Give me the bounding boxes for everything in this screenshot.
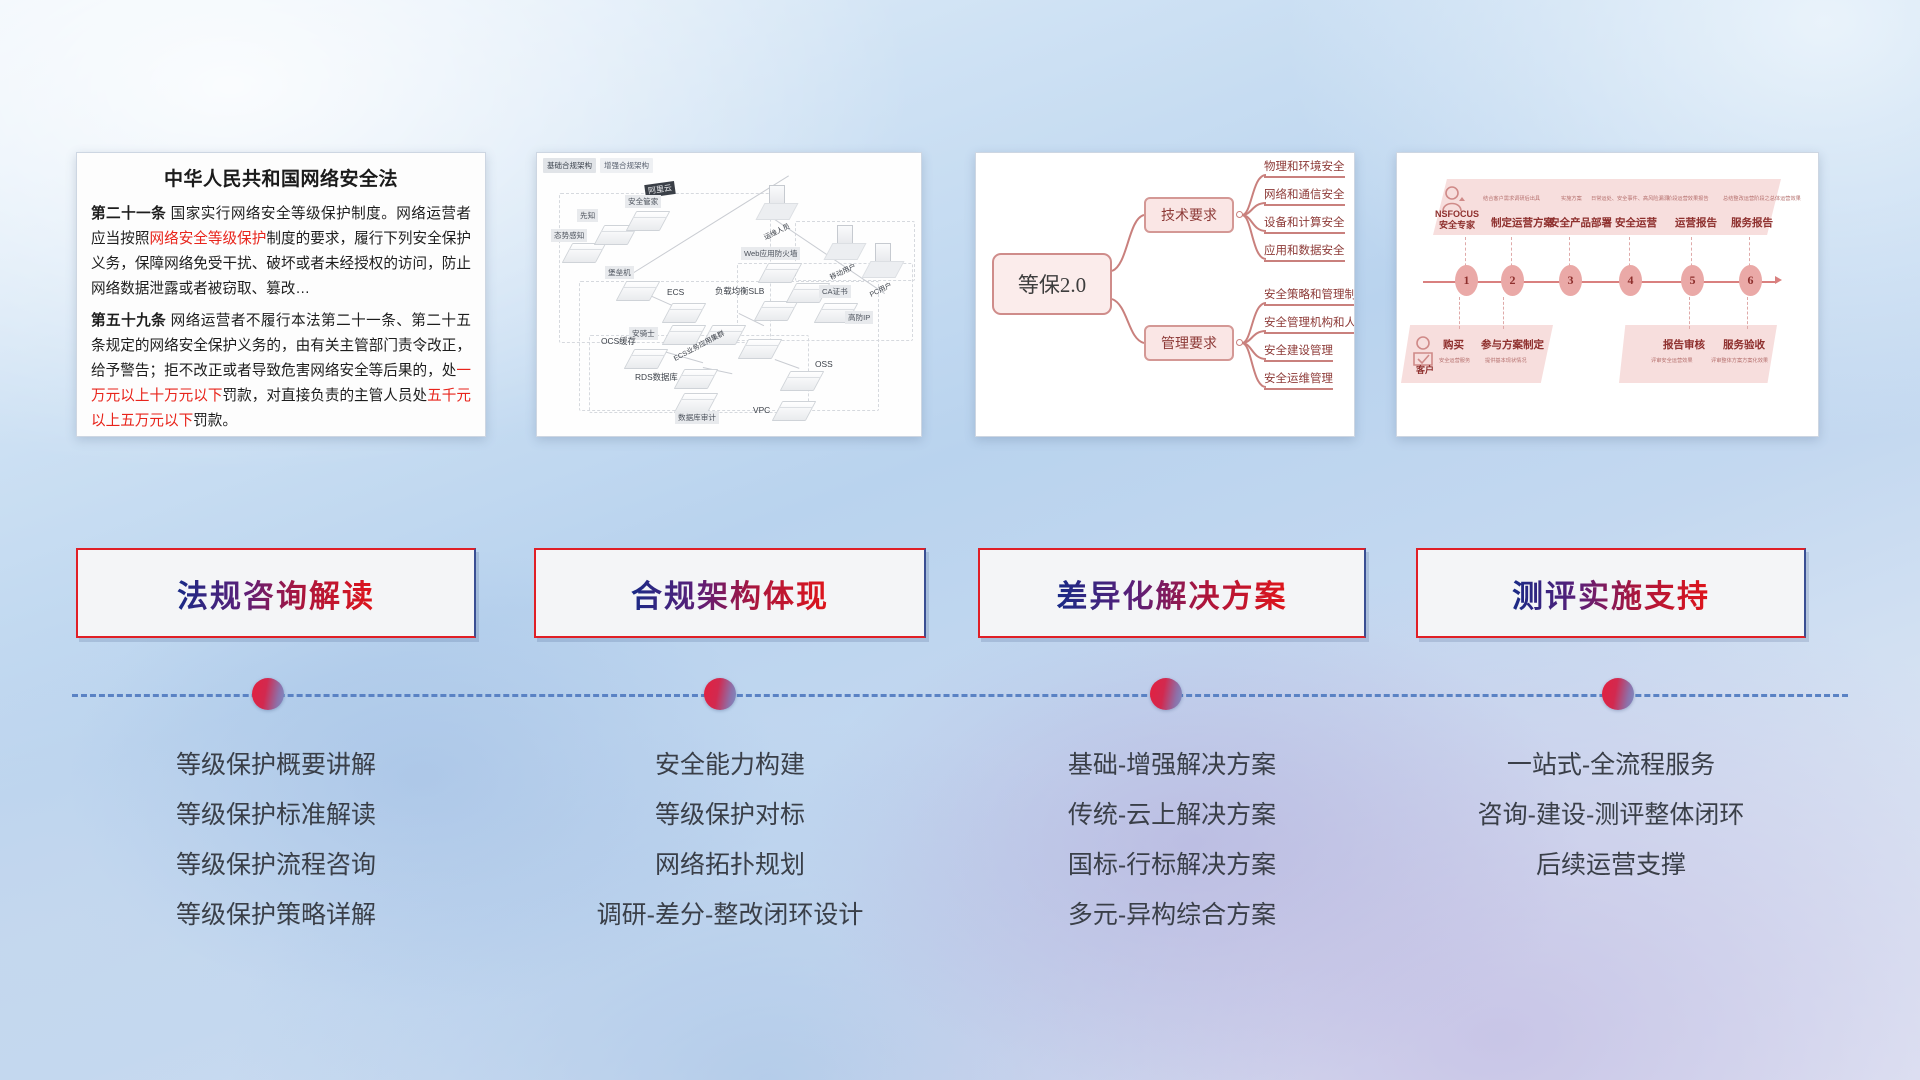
list-item: 安全能力构建 [534, 740, 926, 790]
timeline-customer-title-3: 报告审核 [1663, 337, 1705, 352]
law-article-59: 第五十九条 网络运营者不履行本法第二十一条、第二十五条规定的网络安全保护义务的，… [91, 309, 471, 434]
timeline-customer-title-4: 服务验收 [1723, 337, 1765, 352]
section-title-row: 法规咨询解读 合规架构体现 差异化解决方案 测评实施支持 [0, 548, 1920, 644]
card-cloud-architecture[interactable]: 基础合规架构 增强合规架构 阿里云 态势感知 [536, 152, 922, 437]
timeline-step-4[interactable]: 4 [1619, 265, 1642, 296]
architecture-node-slb: 负载均衡SLB [759, 301, 793, 321]
architecture-node-label-vpc: VPC [753, 405, 770, 415]
mindmap-leaf-policy-system: 安全策略和管理制度 [1264, 286, 1355, 306]
architecture-tab-basic[interactable]: 基础合规架构 [543, 158, 596, 173]
list-item: 咨询-建设-测评整体闭环 [1416, 790, 1806, 840]
architecture-node-label-situational-awareness: 态势感知 [551, 229, 587, 242]
architecture-node-bastion: 堡垒机 [621, 281, 655, 301]
list-item: 一站式-全流程服务 [1416, 740, 1806, 790]
architecture-actor-pc-user: PC用户 [875, 243, 900, 278]
timeline-customer-sub-4: 评审整体方案方案化效果 [1711, 357, 1768, 364]
timeline-rail-dot-3[interactable] [1150, 678, 1182, 710]
mindmap-leaf-app-data: 应用和数据安全 [1264, 242, 1345, 262]
card-cybersecurity-law[interactable]: 中华人民共和国网络安全法 第二十一条 国家实行网络安全等级保护制度。网络运营者应… [76, 152, 486, 437]
list-item: 网络拓扑规划 [534, 840, 926, 890]
timeline-rail-dot-1[interactable] [252, 678, 284, 710]
mindmap-leaf-construction-mgmt: 安全建设管理 [1264, 342, 1333, 362]
list-item: 国标-行标解决方案 [978, 840, 1366, 890]
timeline-dash-8 [1503, 297, 1504, 329]
architecture-actor-ops-staff: 运维人员 [769, 185, 794, 220]
section-detail-list-2: 安全能力构建 等级保护对标 网络拓扑规划 调研-差分-整改闭环设计 [534, 740, 926, 940]
timeline-rail-dot-4[interactable] [1602, 678, 1634, 710]
illustration-card-row: 中华人民共和国网络安全法 第二十一条 国家实行网络安全等级保护制度。网络运营者应… [0, 152, 1920, 437]
timeline-step-2[interactable]: 2 [1501, 265, 1524, 296]
list-item: 等级保护标准解读 [76, 790, 476, 840]
timeline-expert-title-4: 运营报告 [1675, 215, 1717, 230]
section-title-box-1[interactable]: 法规咨询解读 [76, 548, 476, 638]
law-article-21: 第二十一条 国家实行网络安全等级保护制度。网络运营者应当按照网络安全等级保护制度… [91, 202, 471, 302]
section-title-label-3: 差异化解决方案 [1057, 571, 1288, 616]
architecture-node-label-bastion: 堡垒机 [605, 266, 634, 279]
law-article-21-label: 第二十一条 [91, 206, 166, 222]
list-item: 多元-异构综合方案 [978, 890, 1366, 940]
timeline-step-3[interactable]: 3 [1559, 265, 1582, 296]
timeline-dash-9 [1689, 297, 1690, 329]
architecture-node-label-ecs: ECS [667, 287, 684, 297]
timeline-dash-7 [1459, 297, 1460, 329]
section-title-label-4: 测评实施支持 [1512, 571, 1710, 616]
architecture-node-ocs-cache: OCS缓存 [629, 349, 663, 369]
card-mpls-mindmap[interactable]: 等保2.0 技术要求 物理和环境安全 网络和通信安全 设备和计算安全 应用和数据… [975, 152, 1355, 437]
architecture-node-situational-awareness: 态势感知 [567, 243, 601, 263]
list-item: 传统-云上解决方案 [978, 790, 1366, 840]
timeline-step-1[interactable]: 1 [1455, 265, 1478, 296]
section-title-box-3[interactable]: 差异化解决方案 [978, 548, 1366, 638]
card-service-timeline[interactable]: NSFOCUS 安全专家 客户 结合客户需求调研后出具 制定运营方案 实施方案 … [1396, 152, 1819, 437]
timeline-customer-sub-3: 评审安全运营效果 [1651, 357, 1693, 364]
timeline-expert-sub-2: 实施方案 [1561, 195, 1582, 202]
law-article-21-highlight: 网络安全等级保护 [149, 231, 266, 247]
timeline-expert-sub-5: 总结整改运营阶段之总体运营效果 [1723, 195, 1801, 202]
timeline-expert-title-1: 制定运营方案 [1491, 215, 1554, 230]
timeline-role-expert-line2: 安全专家 [1429, 220, 1485, 231]
architecture-node-label-security-butler: 安全管家 [625, 195, 661, 208]
law-article-59-label: 第五十九条 [91, 313, 166, 329]
timeline-customer-sub-2: 提供基本现状情况 [1485, 357, 1527, 364]
timeline-expert-title-2: 安全产品部署 [1549, 215, 1612, 230]
mindmap-leaf-ops-mgmt: 安全运维管理 [1264, 370, 1333, 390]
mindmap-root-node: 等保2.0 [992, 253, 1112, 315]
section-title-label-1: 法规咨询解读 [177, 571, 375, 616]
list-item: 等级保护流程咨询 [76, 840, 476, 890]
architecture-node-label-xianzhi: 先知 [577, 209, 598, 222]
architecture-node-ecs-cluster-2 [743, 339, 777, 359]
timeline-role-customer: 客户 [1407, 365, 1443, 376]
architecture-node-anti-ddos: 高防IP [819, 303, 853, 323]
timeline-role-expert-line1: NSFOCUS [1429, 209, 1485, 220]
architecture-node-label-ocs-cache: OCS缓存 [601, 335, 636, 347]
law-article-59-text-after: 罚款。 [193, 413, 237, 429]
mindmap-diagram: 等保2.0 技术要求 物理和环境安全 网络和通信安全 设备和计算安全 应用和数据… [976, 153, 1354, 436]
timeline-rail [72, 694, 1848, 697]
timeline-diagram: NSFOCUS 安全专家 客户 结合客户需求调研后出具 制定运营方案 实施方案 … [1397, 153, 1818, 436]
section-title-box-2[interactable]: 合规架构体现 [534, 548, 926, 638]
section-detail-list-4: 一站式-全流程服务 咨询-建设-测评整体闭环 后续运营支撑 [1416, 740, 1806, 890]
architecture-node-ecs: ECS [667, 303, 701, 323]
architecture-actor-mobile-user: 移动用户 [837, 225, 862, 260]
mindmap-collapse-dot-technical[interactable] [1236, 211, 1243, 218]
list-item: 等级保护对标 [534, 790, 926, 840]
mindmap-leaf-physical-env: 物理和环境安全 [1264, 158, 1345, 178]
mindmap-collapse-dot-management[interactable] [1236, 339, 1243, 346]
timeline-customer-title-2: 参与方案制定 [1481, 337, 1544, 352]
timeline-customer-title-1: 购买 [1443, 337, 1464, 352]
timeline-rail-dot-2[interactable] [704, 678, 736, 710]
architecture-node-ecs-cluster: ECS业务应用集群 [707, 325, 741, 345]
mindmap-leaf-org-personnel: 安全管理机构和人员 [1264, 314, 1355, 334]
section-title-box-4[interactable]: 测评实施支持 [1416, 548, 1806, 638]
architecture-node-waf: Web应用防火墙 [763, 263, 797, 283]
list-item: 等级保护策略详解 [76, 890, 476, 940]
section-detail-list-3: 基础-增强解决方案 传统-云上解决方案 国标-行标解决方案 多元-异构综合方案 [978, 740, 1366, 940]
timeline-customer-sub-1: 安全运营服务 [1439, 357, 1470, 364]
mindmap-leaf-network-comm: 网络和通信安全 [1264, 186, 1345, 206]
architecture-tabs[interactable]: 基础合规架构 增强合规架构 [543, 158, 653, 173]
architecture-node-label-waf: Web应用防火墙 [741, 247, 800, 260]
timeline-expert-sub-4: 阶段运营效果报告 [1667, 195, 1709, 202]
architecture-node-vpc: VPC [777, 401, 811, 421]
law-card-title: 中华人民共和国网络安全法 [91, 164, 471, 191]
timeline-dash-10 [1747, 297, 1748, 329]
list-item: 基础-增强解决方案 [978, 740, 1366, 790]
timeline-expert-sub-1: 结合客户需求调研后出具 [1483, 195, 1540, 202]
list-item: 等级保护概要讲解 [76, 740, 476, 790]
list-item: 后续运营支撑 [1416, 840, 1806, 890]
timeline-expert-title-5: 服务报告 [1731, 215, 1773, 230]
timeline-expert-sub-3: 日常运处、安全事件、高风险漏洞 [1591, 195, 1669, 202]
timeline-expert-title-3: 安全运营 [1615, 215, 1657, 230]
architecture-diagram: 基础合规架构 增强合规架构 阿里云 态势感知 [537, 153, 921, 436]
law-card-body: 中华人民共和国网络安全法 第二十一条 国家实行网络安全等级保护制度。网络运营者应… [77, 153, 485, 437]
law-article-59-text-mid: 罚款，对直接负责的主管人员处 [223, 388, 428, 404]
architecture-tab-enhanced[interactable]: 增强合规架构 [600, 158, 653, 173]
mindmap-branch-management: 管理要求 [1144, 325, 1234, 361]
architecture-node-label-rds: RDS数据库 [635, 371, 678, 383]
architecture-node-db-audit: 数据库审计 [679, 393, 713, 413]
architecture-node-ca-cert: CA证书 [791, 283, 825, 303]
architecture-node-label-ca-cert: CA证书 [819, 285, 851, 298]
architecture-node-security-butler: 安全管家 [631, 211, 665, 231]
timeline-step-6[interactable]: 6 [1739, 265, 1762, 296]
architecture-node-oss: OSS [785, 371, 819, 391]
architecture-node-label-slb: 负载均衡SLB [715, 285, 764, 297]
mindmap-leaf-device-compute: 设备和计算安全 [1264, 214, 1345, 234]
architecture-node-label-db-audit: 数据库审计 [675, 411, 719, 424]
timeline-role-expert: NSFOCUS 安全专家 [1429, 209, 1485, 231]
architecture-node-label-anti-ddos: 高防IP [845, 311, 873, 324]
section-detail-list-1: 等级保护概要讲解 等级保护标准解读 等级保护流程咨询 等级保护策略详解 [76, 740, 476, 940]
architecture-node-rds: RDS数据库 [679, 369, 713, 389]
timeline-step-5[interactable]: 5 [1681, 265, 1704, 296]
timeline-arrow-icon [1775, 276, 1782, 284]
section-title-label-2: 合规架构体现 [631, 571, 829, 616]
mindmap-branch-technical: 技术要求 [1144, 197, 1234, 233]
list-item: 调研-差分-整改闭环设计 [534, 890, 926, 940]
architecture-node-label-oss: OSS [815, 359, 833, 369]
